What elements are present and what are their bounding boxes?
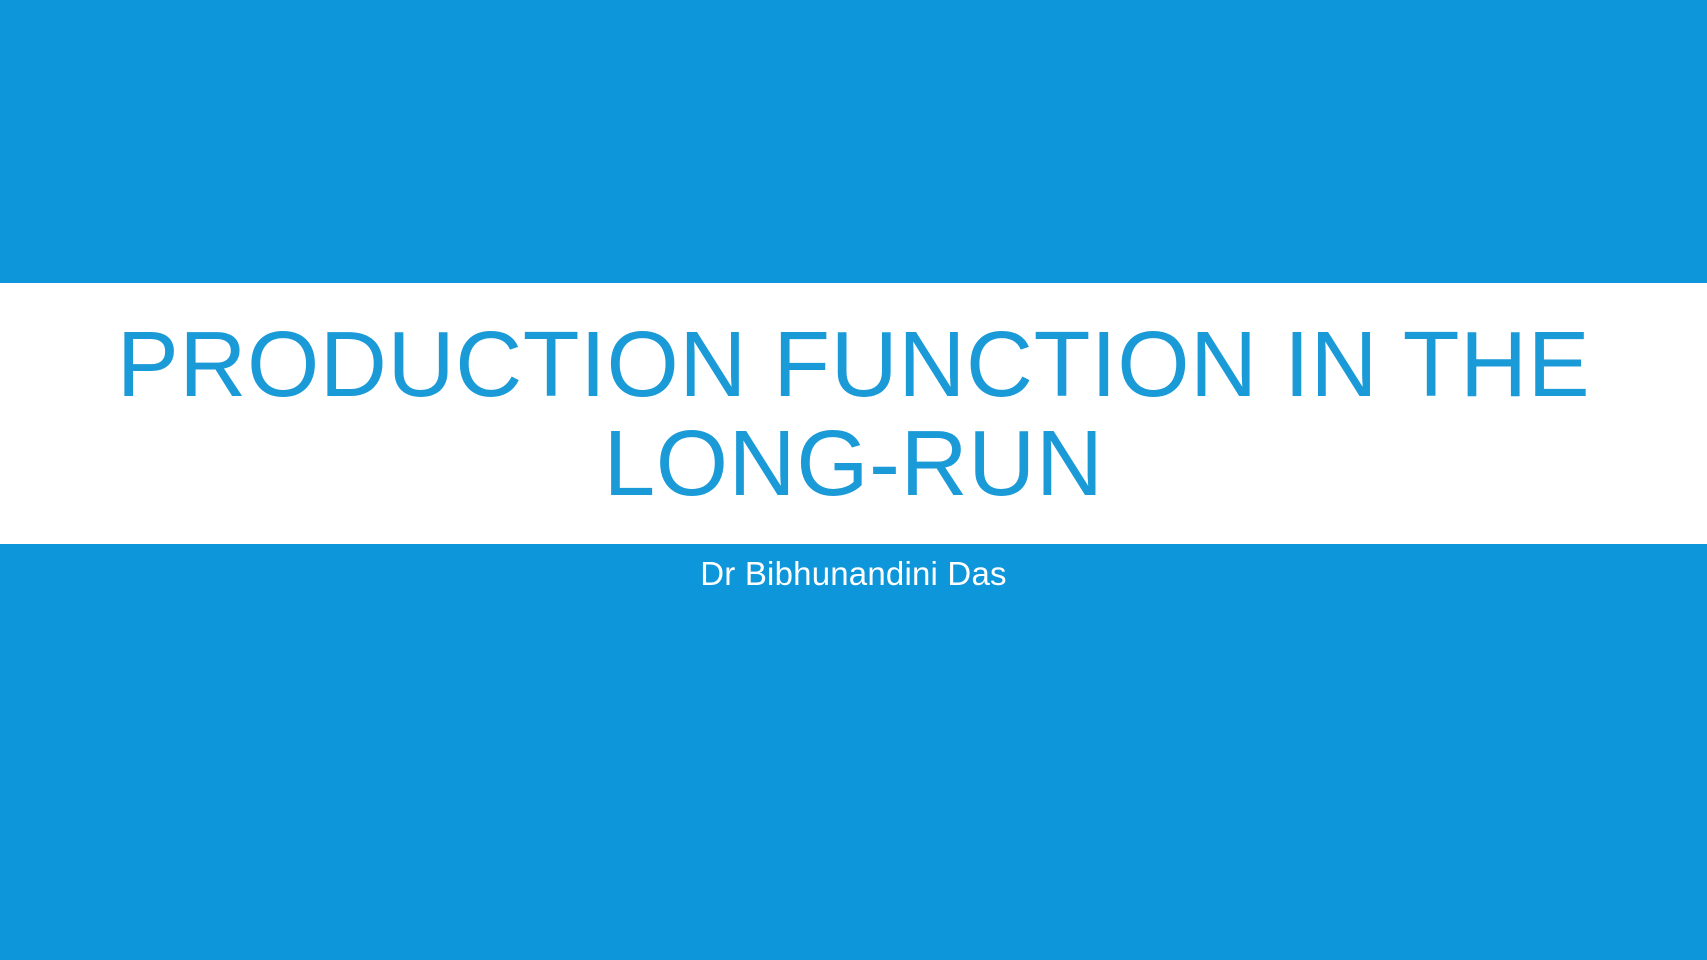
presentation-title-slide: PRODUCTION FUNCTION IN THE LONG-RUN Dr B… [0, 0, 1707, 960]
subtitle-zone: Dr Bibhunandini Das [0, 544, 1707, 624]
top-blue-background [0, 0, 1707, 283]
slide-subtitle: Dr Bibhunandini Das [700, 544, 1006, 594]
title-white-band: PRODUCTION FUNCTION IN THE LONG-RUN [0, 283, 1707, 544]
slide-title: PRODUCTION FUNCTION IN THE LONG-RUN [0, 315, 1707, 512]
